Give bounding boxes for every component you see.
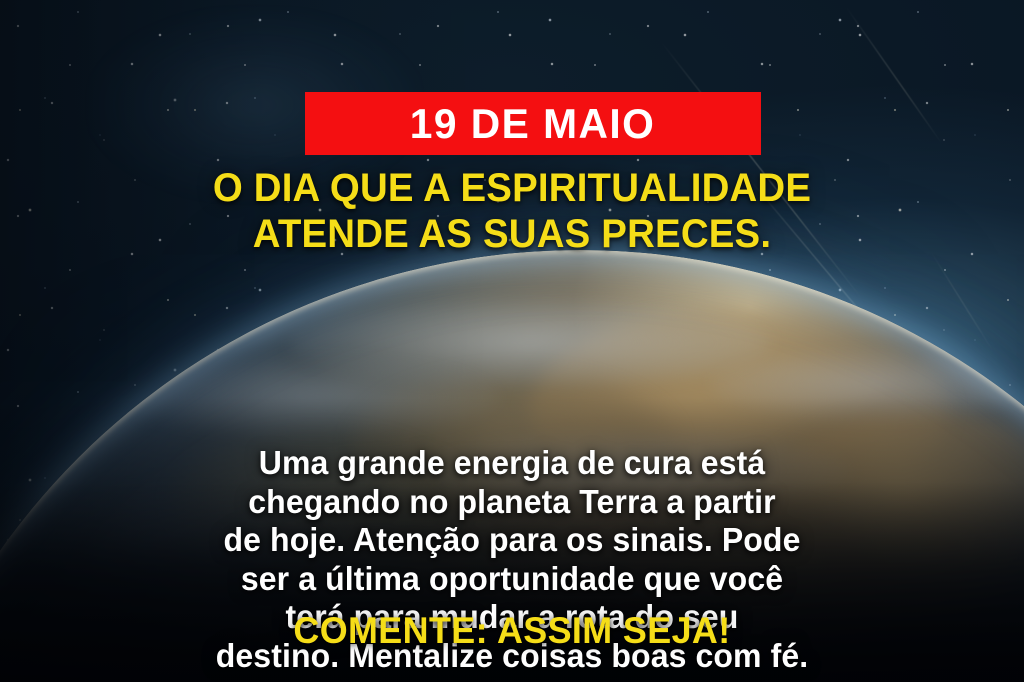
social-media-poster: 19 DE MAIO O DIA QUE A ESPIRITUALIDADE A… [0, 0, 1024, 685]
date-banner: 19 DE MAIO [305, 92, 761, 155]
body-line-2: chegando no planeta Terra a partir [54, 483, 970, 522]
headline-line-2: ATENDE AS SUAS PRECES. [68, 212, 955, 258]
date-banner-text: 19 DE MAIO [410, 103, 655, 145]
headline: O DIA QUE A ESPIRITUALIDADE ATENDE AS SU… [68, 166, 955, 257]
body-line-1: Uma grande energia de cura está [54, 444, 970, 483]
body-line-4: ser a última oportunidade que você [54, 560, 970, 599]
body-line-3: de hoje. Atenção para os sinais. Pode [54, 521, 970, 560]
call-to-action-text: COMENTE: ASSIM SEJA! [64, 612, 960, 651]
headline-line-1: O DIA QUE A ESPIRITUALIDADE [68, 166, 955, 212]
poster-content: 19 DE MAIO O DIA QUE A ESPIRITUALIDADE A… [0, 0, 1024, 685]
